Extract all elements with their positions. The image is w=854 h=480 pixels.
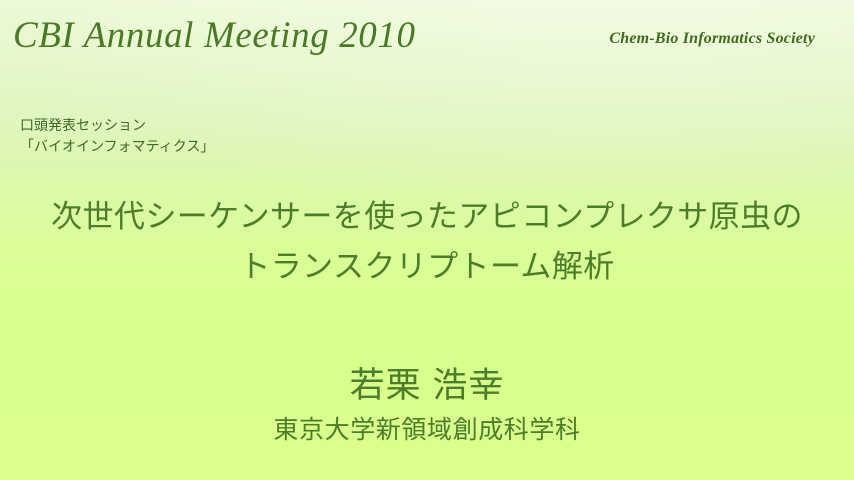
society-name: Chem-Bio Informatics Society bbox=[609, 30, 815, 48]
presentation-title-line-2: トランスクリプトーム解析 bbox=[0, 242, 854, 292]
presenter-name: 若栗 浩幸 bbox=[0, 357, 854, 408]
session-label: 口頭発表セッション 「バイオインフォマティクス」 bbox=[20, 115, 214, 157]
presenter-affiliation: 東京大学新領域創成科学科 bbox=[0, 410, 854, 446]
session-track-line: 「バイオインフォマティクス」 bbox=[20, 136, 214, 157]
presentation-title-line-1: 次世代シーケンサーを使ったアピコンプレクサ原虫の bbox=[0, 192, 854, 242]
presentation-title: 次世代シーケンサーを使ったアピコンプレクサ原虫の トランスクリプトーム解析 bbox=[0, 192, 854, 292]
title-slide: CBI Annual Meeting 2010 Chem-Bio Informa… bbox=[0, 0, 854, 480]
conference-title: CBI Annual Meeting 2010 bbox=[13, 17, 416, 56]
session-type-line: 口頭発表セッション bbox=[20, 115, 214, 136]
